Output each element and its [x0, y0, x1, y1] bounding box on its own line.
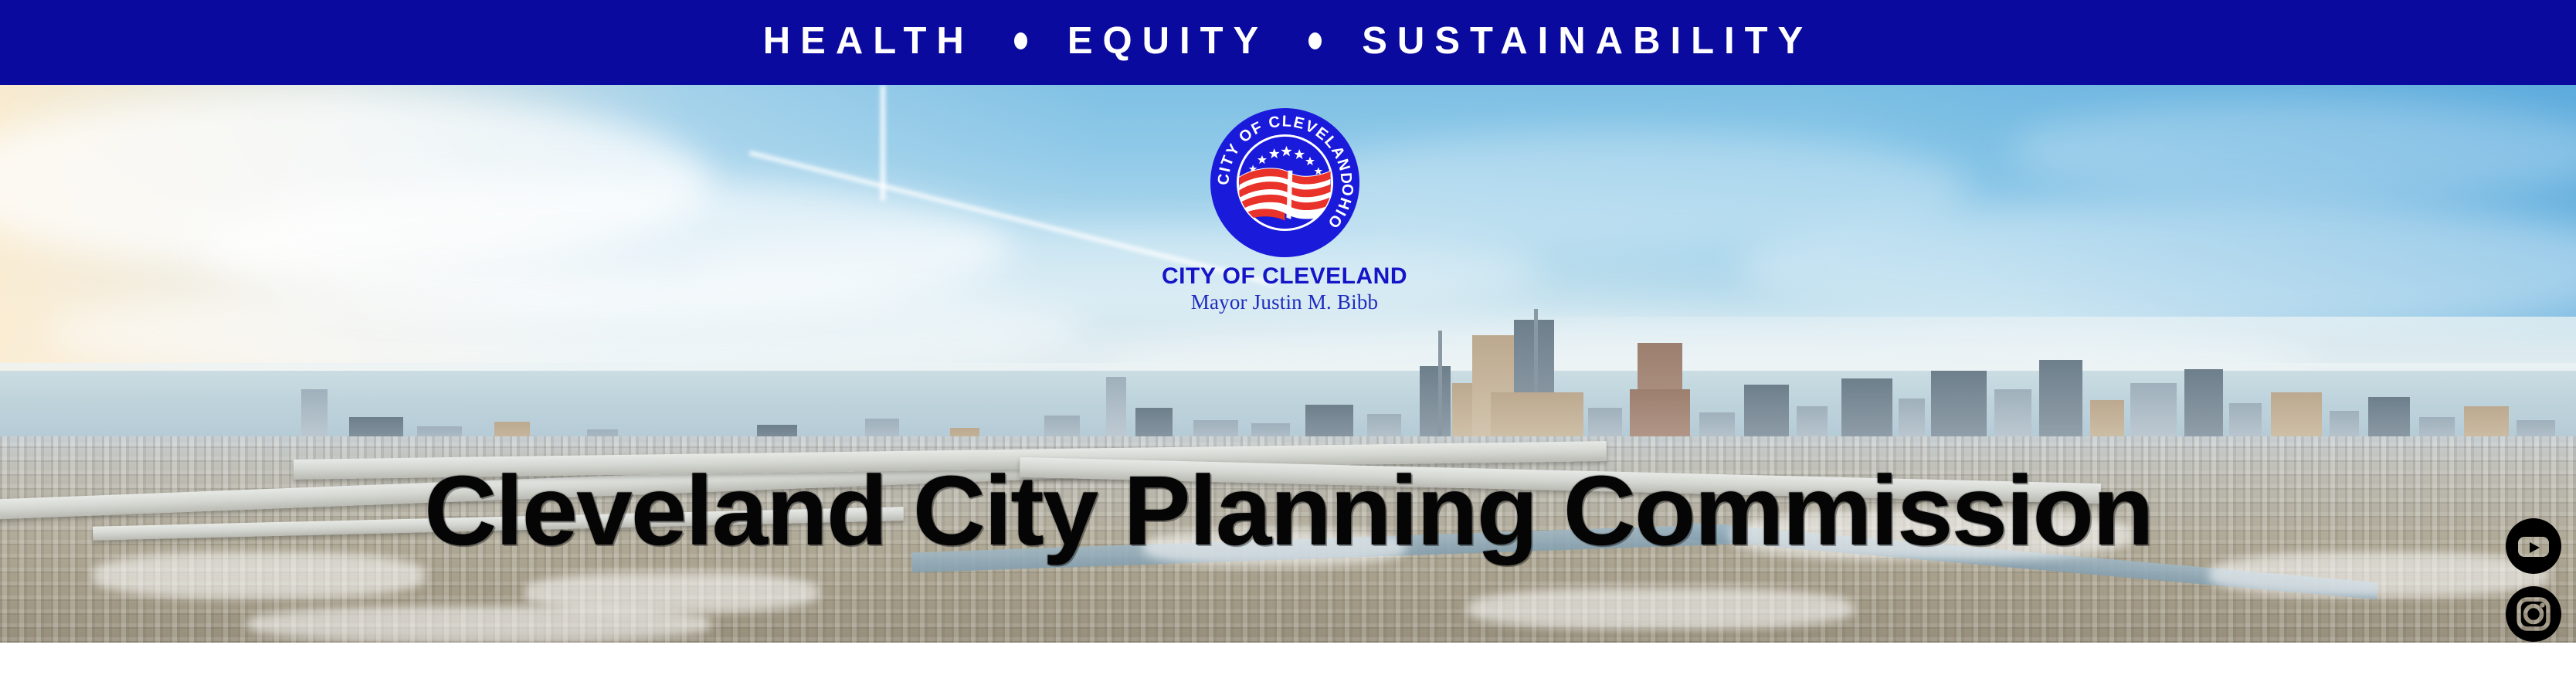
contrail-2 — [881, 85, 885, 201]
organization-name: CITY OF CLEVELAND — [1084, 264, 1485, 289]
hero-photo: CITY OF CLEVELAND OHIO — [0, 85, 2576, 643]
instagram-icon — [2506, 586, 2561, 642]
page-root: HEALTH EQUITY SUSTAINABILITY — [0, 0, 2576, 682]
tagline-separator-dot-2 — [1308, 32, 1322, 49]
tagline-word-equity: EQUITY — [1067, 22, 1268, 60]
instagram-link[interactable] — [2505, 585, 2562, 643]
mayor-name: Mayor Justin M. Bibb — [1084, 291, 1485, 313]
tagline-banner: HEALTH EQUITY SUSTAINABILITY — [0, 0, 2576, 85]
tagline-inner: HEALTH EQUITY SUSTAINABILITY — [763, 22, 1813, 60]
bottom-white-strip — [0, 643, 2576, 682]
foreground-city — [0, 436, 2576, 643]
social-links — [2505, 517, 2562, 643]
youtube-link[interactable] — [2505, 517, 2562, 575]
tagline-word-sustainability: SUSTAINABILITY — [1362, 22, 1813, 60]
youtube-icon — [2506, 518, 2561, 574]
tagline-separator-dot-1 — [1014, 32, 1027, 49]
tagline-word-health: HEALTH — [763, 22, 974, 60]
city-seal-lockup: CITY OF CLEVELAND OHIO — [1084, 107, 1485, 313]
city-of-cleveland-seal: CITY OF CLEVELAND OHIO — [1209, 107, 1361, 259]
